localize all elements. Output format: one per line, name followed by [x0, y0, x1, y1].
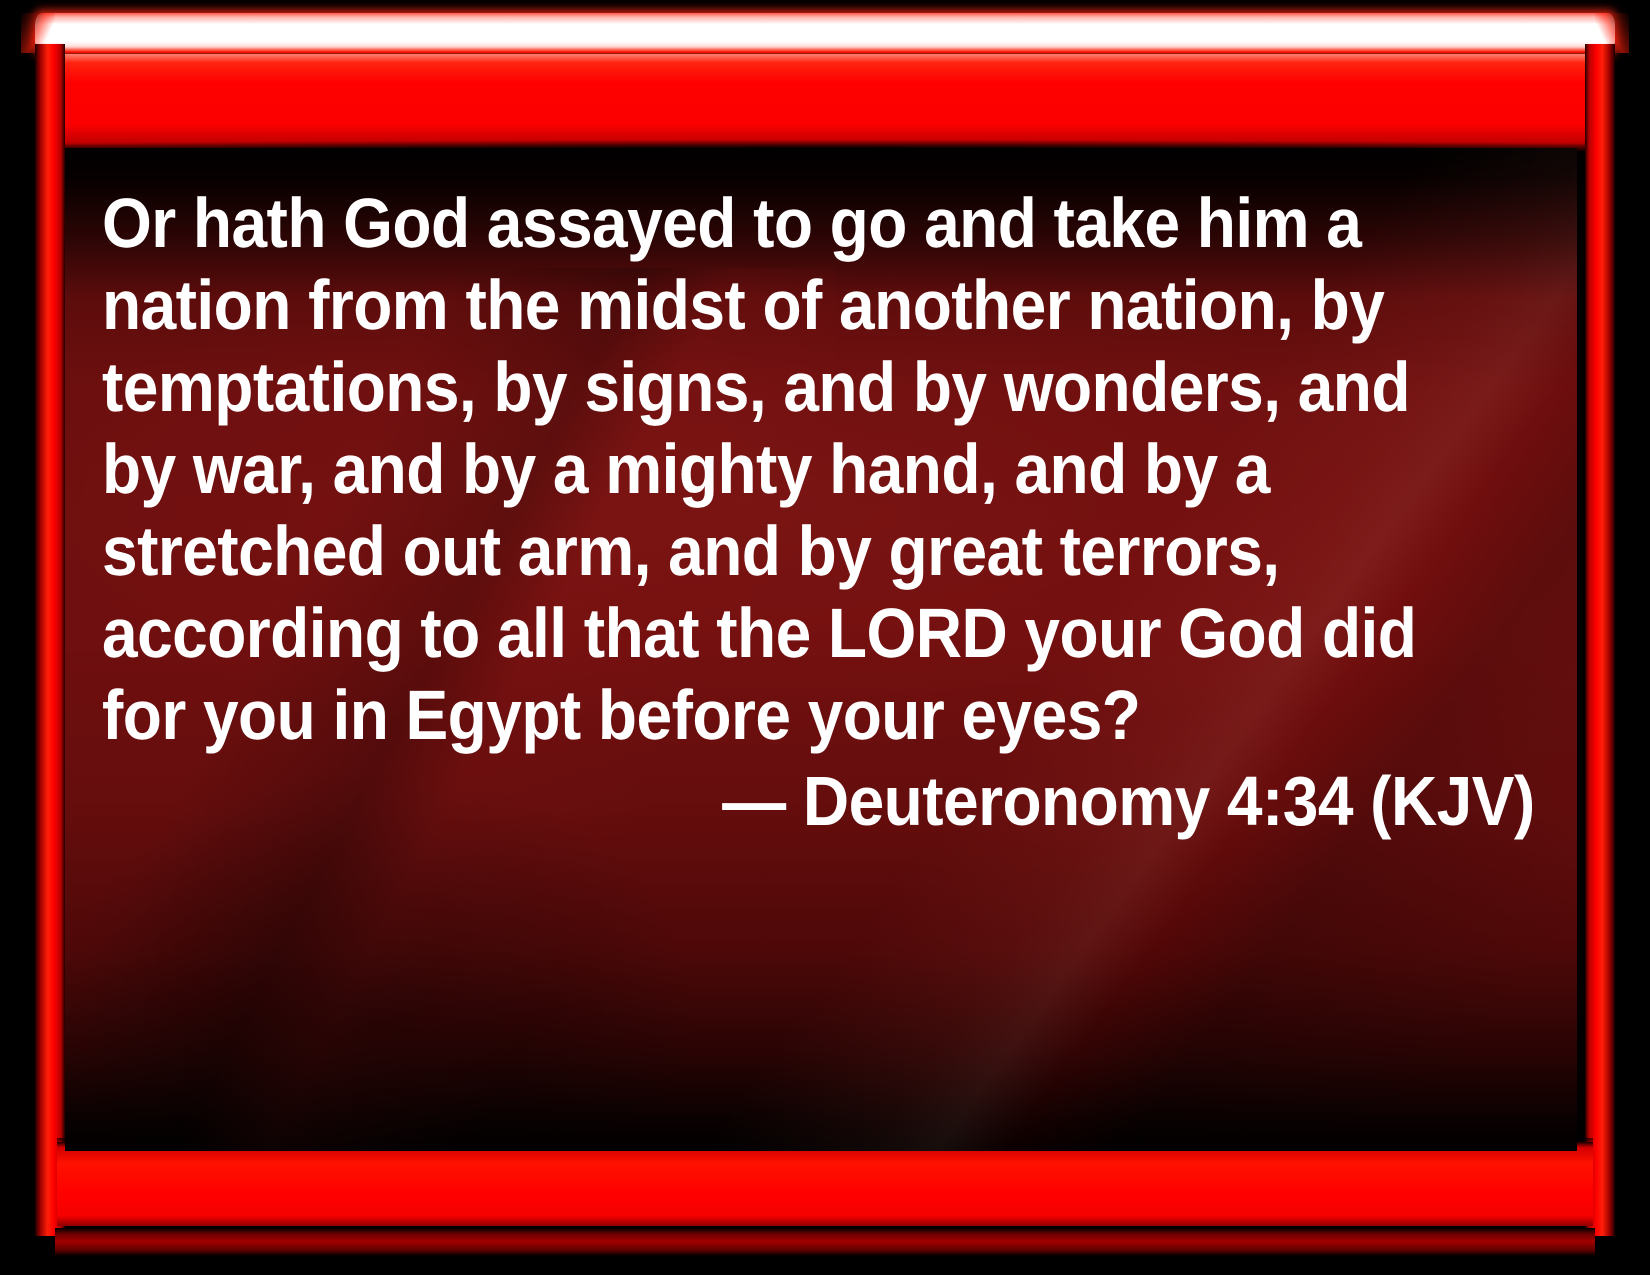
scripture-slide: Or hath God assayed to go and take him a… — [0, 0, 1650, 1275]
verse-content-panel: Or hath God assayed to go and take him a… — [65, 148, 1577, 1151]
verse-line: by war, and by a mighty hand, and by a — [102, 428, 1420, 510]
frame-right-red-rail — [1585, 44, 1615, 1236]
verse-line: temptations, by signs, and by wonders, a… — [102, 346, 1420, 428]
frame-bottom-red-band — [57, 1142, 1593, 1226]
verse-line: Or hath God assayed to go and take him a — [102, 182, 1420, 264]
frame-top-red-band — [57, 54, 1593, 151]
verse-line: stretched out arm, and by great terrors, — [102, 510, 1420, 592]
frame-top-highlight — [35, 13, 1615, 53]
verse-line: nation from the midst of another nation,… — [102, 264, 1420, 346]
frame-bottom-reflection — [55, 1228, 1595, 1256]
verse-line: according to all that the LORD your God … — [102, 592, 1420, 674]
verse-line: for you in Egypt before your eyes? — [102, 674, 1420, 756]
verse-attribution: — Deuteronomy 4:34 (KJV) — [224, 760, 1542, 842]
verse-text-block: Or hath God assayed to go and take him a… — [102, 182, 1542, 842]
slide-frame: Or hath God assayed to go and take him a… — [17, 8, 1633, 1266]
frame-left-red-rail — [35, 44, 65, 1236]
